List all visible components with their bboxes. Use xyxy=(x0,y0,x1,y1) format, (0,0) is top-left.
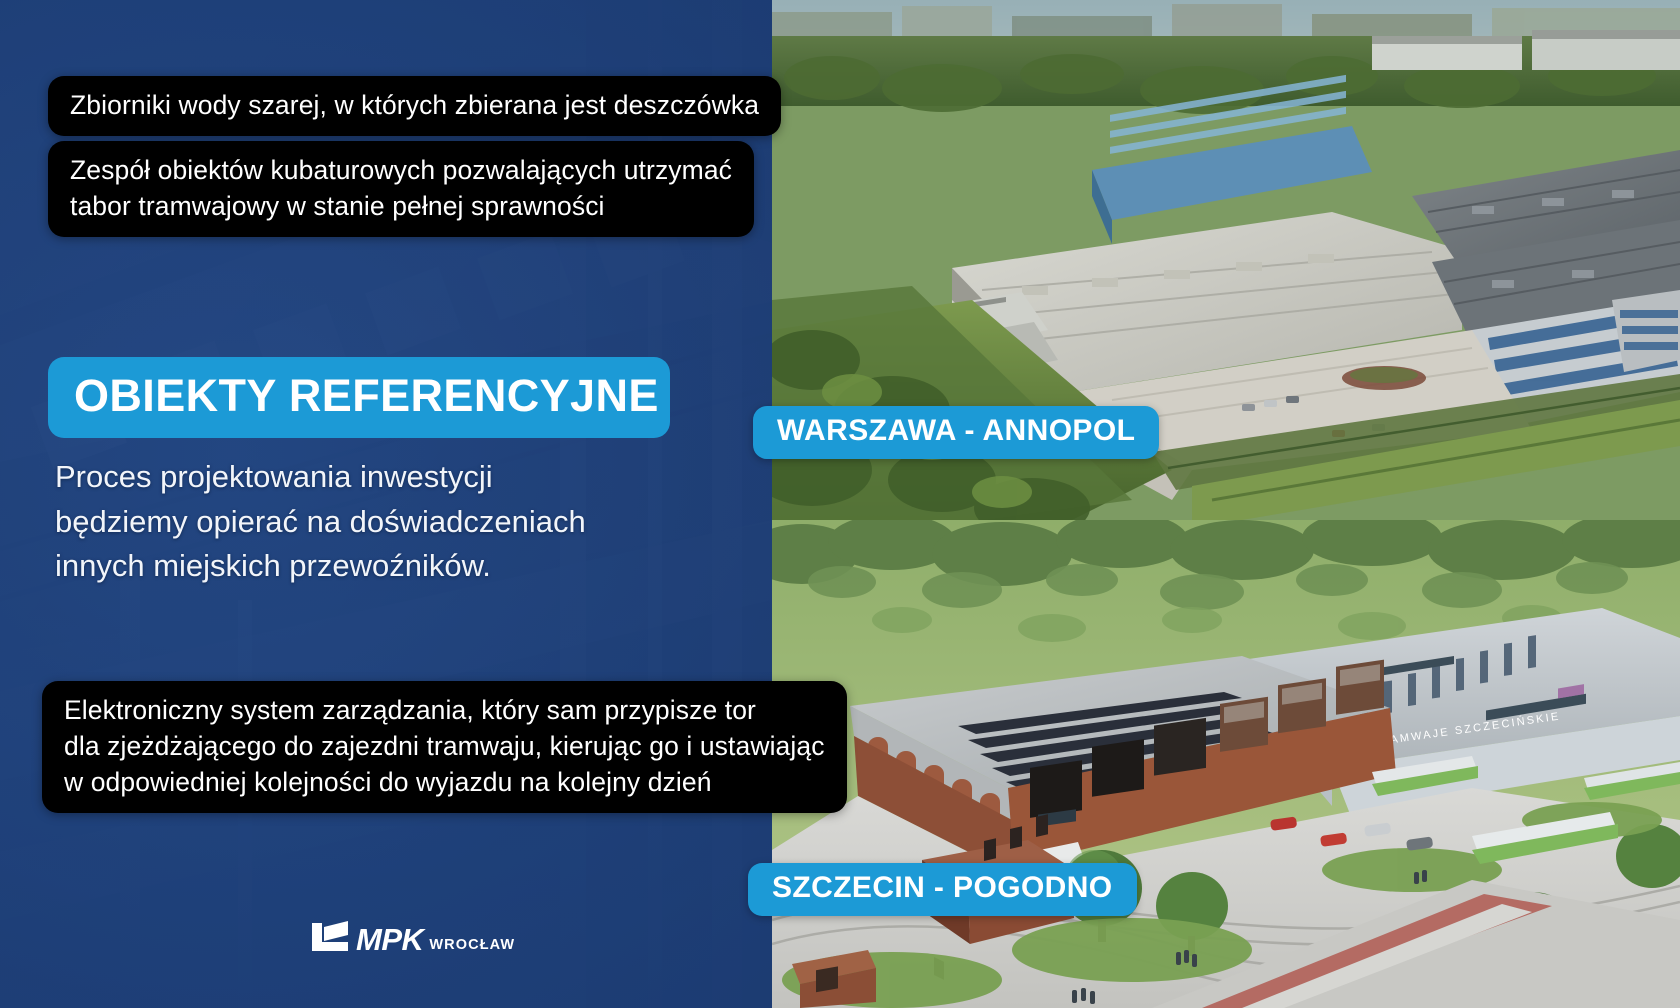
logo-city: WROCŁAW xyxy=(429,938,515,956)
mpk-arrow-icon xyxy=(310,921,350,955)
badge-szczecin-pogodno: SZCZECIN - POGODNO xyxy=(748,863,1137,916)
photo-szczecin-pogodno: TRAMWAJE SZCZECIŃSKIE xyxy=(772,520,1680,1008)
logo-name: MPK xyxy=(356,924,423,955)
badge-warszawa-annopol: WARSZAWA - ANNOPOL xyxy=(753,406,1159,459)
section-title-banner: OBIEKTY REFERENCYJNE xyxy=(48,357,670,438)
presentation-slide: TRAMWAJE SZCZECIŃSKIE xyxy=(0,0,1680,1008)
callout-management-system: Elektroniczny system zarządzania, który … xyxy=(42,681,847,813)
depot-rendering-illustration: TRAMWAJE SZCZECIŃSKIE xyxy=(772,520,1680,1008)
mpk-wroclaw-logo: MPK WROCŁAW xyxy=(310,921,515,955)
page-title: OBIEKTY REFERENCYJNE xyxy=(74,373,644,418)
callout-reservoirs: Zbiorniki wody szarej, w których zbieran… xyxy=(48,76,781,136)
callout-buildings: Zespół obiektów kubaturowych pozwalający… xyxy=(48,141,754,237)
lead-paragraph: Proces projektowania inwestycji będziemy… xyxy=(55,455,715,589)
